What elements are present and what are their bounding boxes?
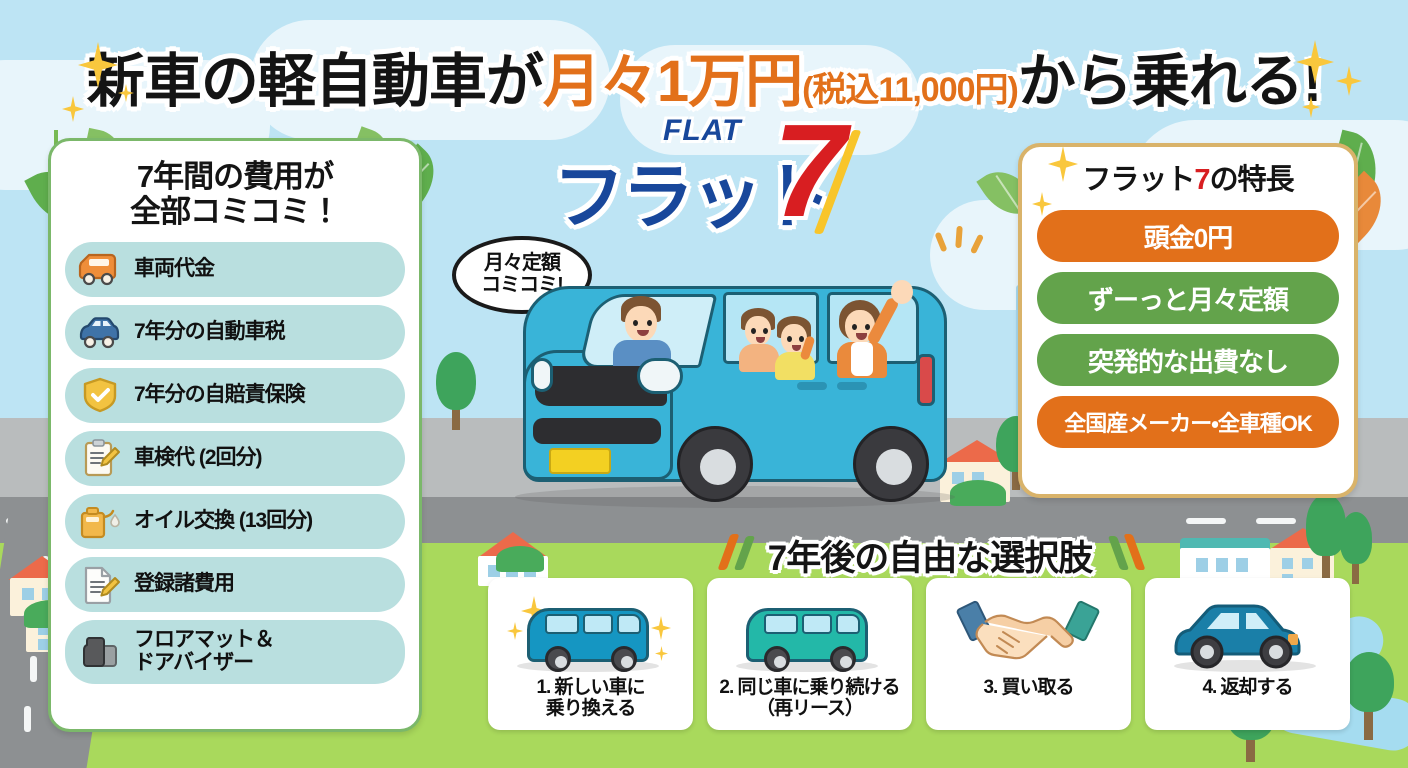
feature-label: 突発的な出費なし [1088,342,1288,379]
left-panel-title: 7年間の費用が 全部コミコミ！ [51,141,419,242]
cost-item-label: 7年分の自動車税 [134,321,285,344]
cost-item[interactable]: 7年分の自賠責保険 [65,368,405,423]
feature-label: 全国産メーカー・全車種OK [1064,406,1311,438]
flat7-logo: FLAT フラット 7 [545,112,895,237]
choice-card-caption: 1. 新しい車に 乗り換える [536,677,644,720]
choice-card[interactable]: 2. 同じ車に乗り続ける （再リース） [707,578,912,730]
blue-sedan-icon [1160,590,1335,675]
choice-caption-line1: 2. 同じ車に乗り続ける [719,677,899,698]
cost-item-label: 登録諸費用 [134,573,234,596]
feature-label: 頭金0円 [1144,218,1232,255]
floor-mat-icon [77,632,123,672]
road-dash [30,656,37,682]
door-handle [797,382,827,390]
headline-accent: 月々1万円 [543,49,802,114]
choice-card-caption: 2. 同じ車に乗り続ける （再リース） [719,677,899,720]
headlight [637,358,683,394]
tree [1340,512,1372,564]
cost-item-label: 7年分の自賠責保険 [134,384,305,407]
main-car-illustration [505,258,975,518]
choice-card[interactable]: 4. 返却する [1145,578,1350,730]
right-panel-title-post: の特長 [1210,164,1294,196]
choice-card[interactable]: 3. 買い取る [926,578,1131,730]
oil-can-icon [77,501,123,541]
sparkle-icon [651,616,671,640]
door-handle [837,382,867,390]
cost-item-label: オイル交換 (13回分) [134,510,312,533]
tree [436,352,476,410]
cost-item[interactable]: 車両代金 [65,242,405,297]
headline-part2: から乗れる! [1018,49,1321,114]
feature-item[interactable]: 全国産メーカー・全車種OK [1037,396,1339,448]
cost-inclusions-panel: 7年間の費用が 全部コミコミ！ 車両代金 [48,138,422,732]
teal-van-icon [722,590,897,675]
choice-caption-line1: 3. 買い取る [983,677,1073,698]
cost-item[interactable]: オイル交換 (13回分) [65,494,405,549]
license-plate [549,448,611,474]
cost-item-label: フロアマット＆ ドアバイザー [134,629,274,674]
sedan-icon [77,312,123,352]
bush [496,546,544,572]
headlight [531,358,553,392]
feature-list: 頭金0円 ずーっと月々定額 突発的な出費なし 全国産メーカー・全車種OK [1022,210,1354,448]
page-headline: 新車の軽自動車が月々1万円(税込11,000円)から乗れる! [0,34,1408,118]
right-panel-title-seven: 7 [1194,164,1209,196]
choice-card-caption: 3. 買い取る [983,677,1073,698]
headline-part1: 新車の軽自動車が [87,49,543,114]
tree [1344,652,1394,712]
cost-item-label: 車検代 (2回分) [134,447,262,470]
road-dash [1256,518,1296,524]
feature-item[interactable]: 突発的な出費なし [1037,334,1339,386]
blue-van-icon [503,590,678,675]
left-panel-title-line1: 7年間の費用が [51,159,419,194]
choices-title: 7年後の自由な選択肢 [700,530,1160,581]
left-panel-title-line2: 全部コミコミ！ [51,194,419,229]
choice-caption-line1: 1. 新しい車に [536,677,644,698]
feature-label: ずーっと月々定額 [1088,280,1288,317]
choice-caption-line1: 4. 返却する [1202,677,1292,698]
cost-item[interactable]: 7年分の自動車税 [65,305,405,360]
cost-item[interactable]: 車検代 (2回分) [65,431,405,486]
cost-item[interactable]: 登録諸費用 [65,557,405,612]
choice-caption-line2: 乗り換える [536,698,644,719]
advertisement-canvas: 新車の軽自動車が月々1万円(税込11,000円)から乗れる! FLAT フラット… [0,0,1408,768]
front-wheel [677,426,753,502]
clipboard-pencil-icon [77,438,123,478]
choice-cards: 1. 新しい車に 乗り換える 2. 同じ車に乗り続ける （再リース） [488,578,1350,730]
cost-item-list: 車両代金 7年分の自動車税 [51,242,419,684]
choice-card[interactable]: 1. 新しい車に 乗り換える [488,578,693,730]
choice-card-caption: 4. 返却する [1202,677,1292,698]
choice-caption-line2: （再リース） [719,698,899,719]
sparkle-icon [655,646,668,661]
feature-item[interactable]: 頭金0円 [1037,210,1339,262]
handshake-icon [941,590,1116,675]
van-icon [77,249,123,289]
road-dash [24,706,31,732]
cost-item-label: 車両代金 [134,258,214,281]
feature-item[interactable]: ずーっと月々定額 [1037,272,1339,324]
cost-item[interactable]: フロアマット＆ ドアバイザー [65,620,405,684]
sparkle-icon [507,622,523,640]
road-dash [1186,518,1226,524]
shield-check-icon [77,375,123,415]
features-panel: フラット7の特長 頭金0円 ずーっと月々定額 突発的な出費なし 全国産メーカー・… [1018,143,1358,498]
right-panel-title-pre: フラット [1082,164,1194,196]
document-pencil-icon [77,564,123,604]
car-bumper [533,418,661,444]
taillight [917,354,935,406]
logo-seven: 7 [773,110,840,231]
right-panel-title: フラット7の特長 [1022,147,1354,210]
rear-wheel [853,426,929,502]
